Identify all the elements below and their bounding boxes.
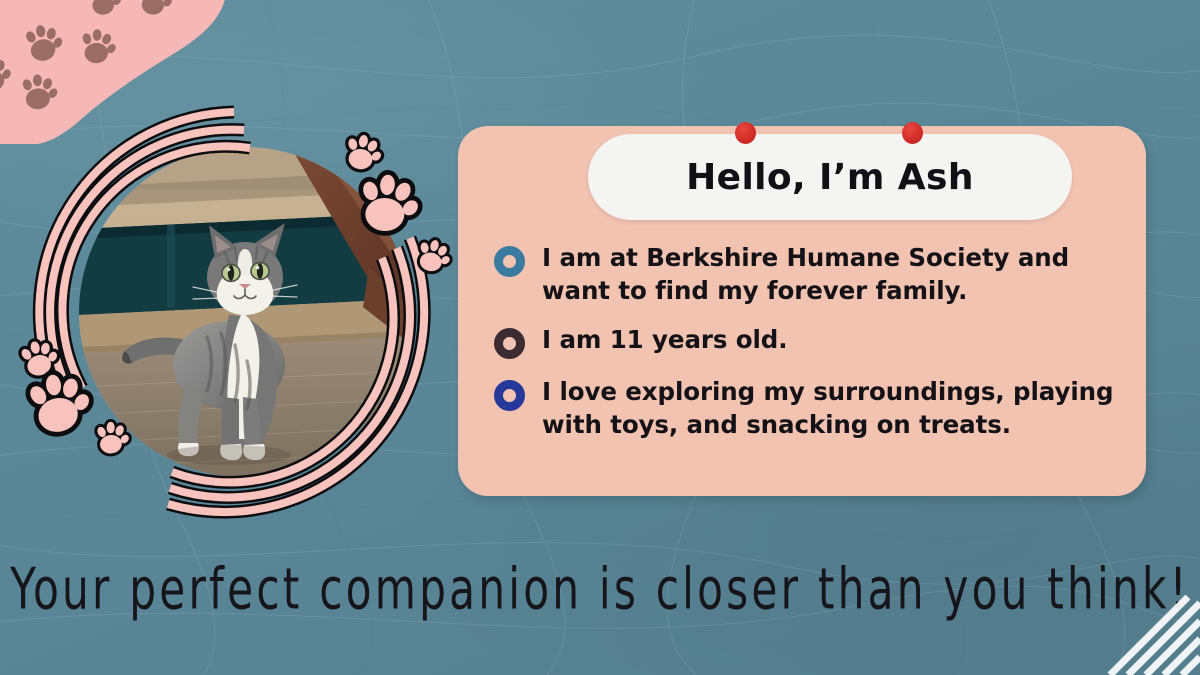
tagline: Your perfect companion is closer than yo… bbox=[0, 556, 1200, 623]
title-pill: Hello, I’m Ash bbox=[588, 134, 1072, 220]
bullet-ring-icon bbox=[494, 328, 525, 359]
pet-info-card: Hello, I’m Ash I am at Berkshire Humane … bbox=[458, 126, 1146, 496]
pin-right-icon bbox=[902, 122, 923, 144]
list-item: I am 11 years old. bbox=[494, 324, 1114, 359]
pet-photo-frame bbox=[18, 96, 450, 528]
bullet-ring-icon bbox=[494, 246, 525, 277]
list-item-text: I love exploring my surroundings, playin… bbox=[542, 376, 1114, 441]
page-title: Hello, I’m Ash bbox=[686, 157, 974, 198]
paw-print-stickers bbox=[18, 96, 450, 528]
list-item: I am at Berkshire Humane Society and wan… bbox=[494, 242, 1114, 307]
list-item-text: I am 11 years old. bbox=[542, 324, 787, 357]
list-item-text: I am at Berkshire Humane Society and wan… bbox=[542, 242, 1114, 307]
slide-canvas: Hello, I’m Ash I am at Berkshire Humane … bbox=[0, 0, 1200, 675]
corner-stripes-decoration bbox=[1070, 595, 1200, 675]
list-item: I love exploring my surroundings, playin… bbox=[494, 376, 1114, 441]
pet-facts-list: I am at Berkshire Humane Society and wan… bbox=[494, 242, 1114, 441]
bullet-ring-icon bbox=[494, 380, 525, 411]
pin-left-icon bbox=[735, 122, 756, 144]
